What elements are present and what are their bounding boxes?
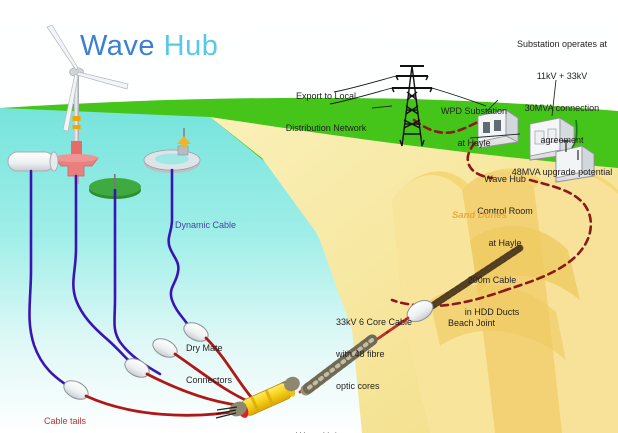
beach-joint-label: Beach Joint [448,318,495,329]
control-line-1: Wave Hub [468,174,542,185]
dynamic-cable-label: Dynamic Cable [175,220,236,231]
export-line-2: Distribution Network [278,123,374,134]
sand-dunes-label: Sand Dunes [452,210,507,221]
export-line-1: Export to Local [278,91,374,102]
wpd-line-2: at Hayle [434,138,514,149]
wpd-line-1: WPD Substation [434,106,514,117]
export-network-label: Export to Local Distribution Network [278,70,374,155]
logo-word-wave: Wave [80,30,155,62]
spec-line-4: agreement [508,135,616,146]
spec-line-2: 11kV + 33kV [508,71,616,82]
wave-hub-logo: Wave Hub [80,30,218,63]
spec-line-1: Substation operates at [508,39,616,50]
logo-word-hub: Hub [164,30,219,62]
core-line-1: 33kV 6 Core Cable [336,317,432,328]
core-line-3: optic cores [336,381,432,392]
drymate-line-2: Connectors [186,375,262,386]
core-line-2: with 48 fibre [336,349,432,360]
drymate-line-1: Dry Mate [186,343,262,354]
wave-hub-unit-label: Wave Hub located 16km offshore in excell… [296,409,460,433]
wave-device-cylinder [8,152,58,171]
hdd-line-1: 200m Cable [450,275,534,286]
dry-mate-label: Dry Mate Connectors [186,322,262,407]
core-cable-label: 33kV 6 Core Cable with 48 fibre optic co… [336,296,432,413]
wave-hub-diagram: Substation operates at 11kV + 33kV 30MVA… [0,0,618,433]
spec-line-3: 30MVA connection [508,103,616,114]
hdd-line-2: in HDD Ducts [450,307,534,318]
control-line-3: at Hayle [468,238,542,249]
cable-tails-label: Cable tails [44,416,86,427]
